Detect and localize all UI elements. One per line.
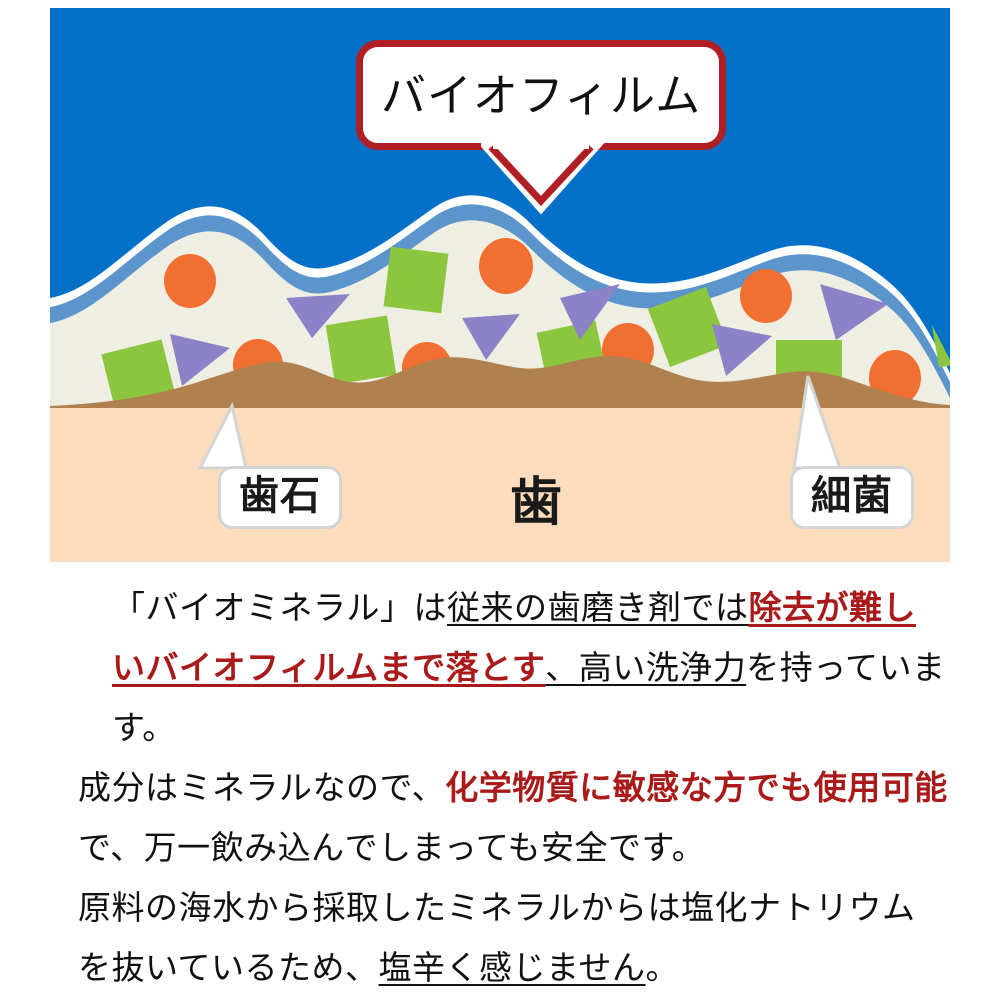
particle-orange-circle — [164, 254, 216, 308]
particle-green-square — [326, 316, 397, 385]
p2-seg2: 化学物質に敏感な方でも使用可能 — [445, 768, 948, 807]
label-bacteria: 細菌 — [790, 466, 914, 529]
particle-green-square — [384, 247, 449, 314]
biofilm-illustration: バイオフィルム 歯石 歯 細菌 — [50, 8, 950, 562]
callout-box: バイオフィルム — [356, 40, 726, 150]
p2-seg1: 成分はミネラルなので、 — [78, 768, 445, 807]
p1-seg2: 従来の歯磨き剤では — [447, 588, 749, 627]
p1-seg4: 、高い洗浄力 — [545, 648, 746, 687]
p3-seg2: 塩辛く感じません — [379, 948, 646, 987]
paragraph-1: 「バイオミネラル」は従来の歯磨き剤では除去が難しいバイオフィルムまで落とす、高い… — [78, 578, 948, 758]
callout-biofilm: バイオフィルム — [356, 40, 726, 150]
label-bacteria-text: 細菌 — [811, 473, 893, 519]
paragraph-2: 成分はミネラルなので、化学物質に敏感な方でも使用可能で、万一飲み込んでしまっても… — [78, 758, 948, 878]
label-tooth: 歯 — [510, 460, 563, 535]
p3-seg3: 。 — [646, 948, 680, 987]
label-tartar-text: 歯石 — [239, 473, 321, 519]
p1-seg1: 「バイオミネラル」は — [112, 588, 447, 627]
label-tartar: 歯石 — [218, 466, 342, 529]
p2-seg3: で、万一飲み込んでしまっても安全です。 — [78, 828, 705, 867]
label-tooth-text: 歯 — [510, 473, 563, 533]
callout-label: バイオフィルム — [381, 73, 701, 118]
body-copy: 「バイオミネラル」は従来の歯磨き剤では除去が難しいバイオフィルムまで落とす、高い… — [78, 578, 948, 998]
paragraph-3: 原料の海水から採取したミネラルからは塩化ナトリウムを抜いているため、塩辛く感じま… — [78, 878, 948, 998]
